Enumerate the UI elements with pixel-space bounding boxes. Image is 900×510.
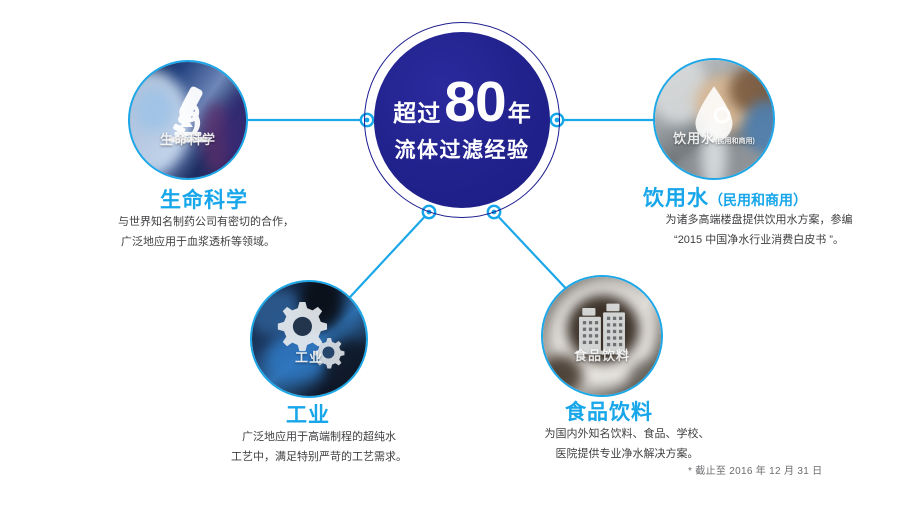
drinking-water-photo[interactable]: 饮用水(民用和商用) — [653, 58, 775, 180]
food-beverage-photo-caption: 食品饮料 — [543, 345, 661, 364]
industrial-title: 工业 — [286, 399, 330, 429]
footnote: * 截止至 2016 年 12 月 31 日 — [688, 462, 822, 477]
hub-headline: 超过 80 年 — [393, 76, 530, 128]
drinking-water-photo-caption: 饮用水(民用和商用) — [655, 128, 773, 147]
drinking-water-description: 为诸多高端楼盘提供饮用水方案，参编 “2015 中国净水行业消费白皮书 ”。 — [634, 210, 884, 250]
microscope-icon — [130, 62, 246, 178]
life-science-photo[interactable]: 生命科学 — [128, 60, 248, 180]
food-beverage-description: 为国内外知名饮料、食品、学校、 医院提供专业净水解决方案。 — [512, 424, 742, 464]
hub-subtitle: 流体过滤经验 — [395, 134, 530, 164]
industrial-description: 广泛地应用于高端制程的超纯水 工艺中，满足特别严苛的工艺需求。 — [229, 427, 409, 467]
life-science-photo-caption: 生命科学 — [130, 129, 246, 148]
industrial-photo-caption: 工业 — [252, 347, 366, 366]
buildings-icon — [543, 277, 661, 395]
water-drop-icon — [655, 60, 773, 178]
hub-suffix: 年 — [508, 94, 531, 128]
life-science-title: 生命科学 — [160, 184, 248, 214]
hub-circle: 超过 80 年 流体过滤经验 — [374, 32, 550, 208]
gears-icon — [252, 282, 366, 396]
infographic-canvas: 超过 80 年 流体过滤经验 — [0, 0, 900, 510]
industrial-photo[interactable]: 工业 — [250, 280, 368, 398]
life-science-description: 与世界知名制药公司有密切的合作， 广泛地应用于血浆透析等领域。 — [118, 212, 278, 252]
food-beverage-photo[interactable]: 食品饮料 — [541, 275, 663, 397]
drinking-water-title: 饮用水（民用和商用） — [643, 182, 807, 212]
hub-number: 80 — [444, 76, 505, 128]
food-beverage-title: 食品饮料 — [565, 396, 653, 426]
hub-prefix: 超过 — [393, 94, 441, 128]
